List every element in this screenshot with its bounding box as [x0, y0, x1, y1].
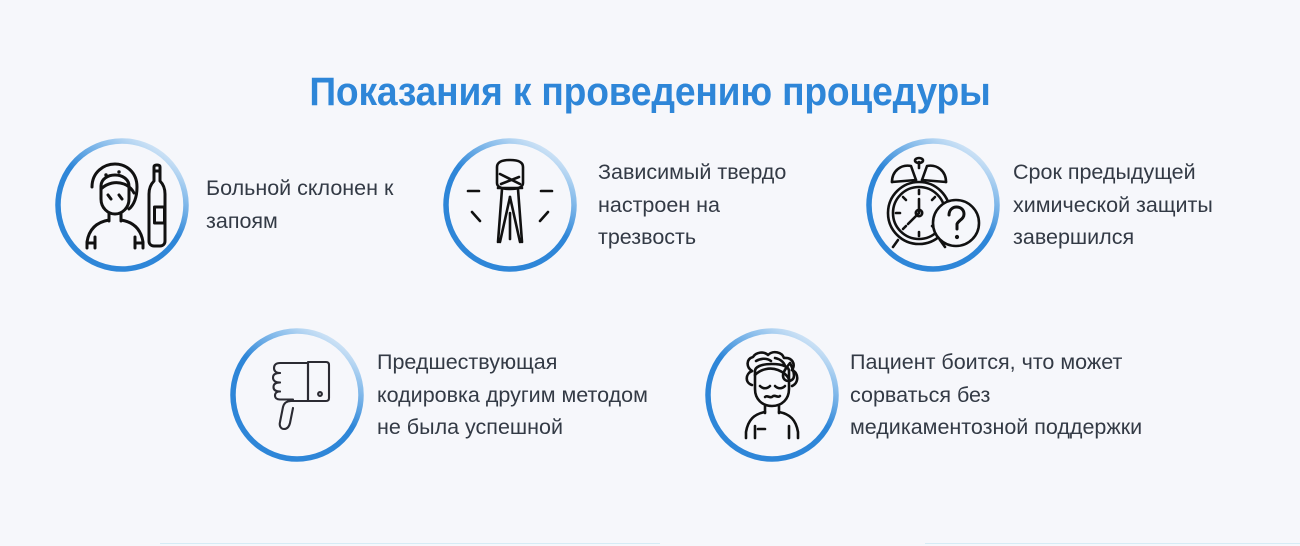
indication-item: Предшествующая кодировка другим методом … — [227, 325, 707, 465]
bottom-divider-segment — [160, 543, 660, 544]
indication-item: Больной склонен к запоям — [52, 135, 452, 275]
item-text: Зависимый твердо настроен на трезвость — [598, 156, 786, 254]
item-text: Срок предыдущей химической защиты заверш… — [1013, 156, 1213, 254]
thumbs-down-icon — [227, 325, 367, 465]
man-with-bottle-icon — [52, 135, 192, 275]
indication-item: Срок предыдущей химической защиты заверш… — [863, 135, 1283, 275]
item-text: Предшествующая кодировка другим методом … — [377, 346, 648, 444]
icon-circle — [440, 135, 580, 275]
indication-item: Зависимый твердо настроен на трезвость — [440, 135, 840, 275]
infographic-root: Показания к проведению процедуры — [0, 0, 1300, 546]
page-title: Показания к проведению процедуры — [46, 69, 1255, 115]
icon-circle — [863, 135, 1003, 275]
item-text: Больной склонен к запоям — [206, 172, 393, 237]
indication-item: Пациент боится, что может сорваться без … — [702, 325, 1262, 465]
icon-circle — [52, 135, 192, 275]
alarm-clock-question-icon — [863, 135, 1003, 275]
determined-person-icon — [440, 135, 580, 275]
worried-patient-icon — [702, 325, 842, 465]
icon-circle — [702, 325, 842, 465]
icon-circle — [227, 325, 367, 465]
item-text: Пациент боится, что может сорваться без … — [850, 346, 1142, 444]
bottom-divider — [0, 540, 1300, 546]
bottom-divider-segment — [925, 543, 1300, 544]
